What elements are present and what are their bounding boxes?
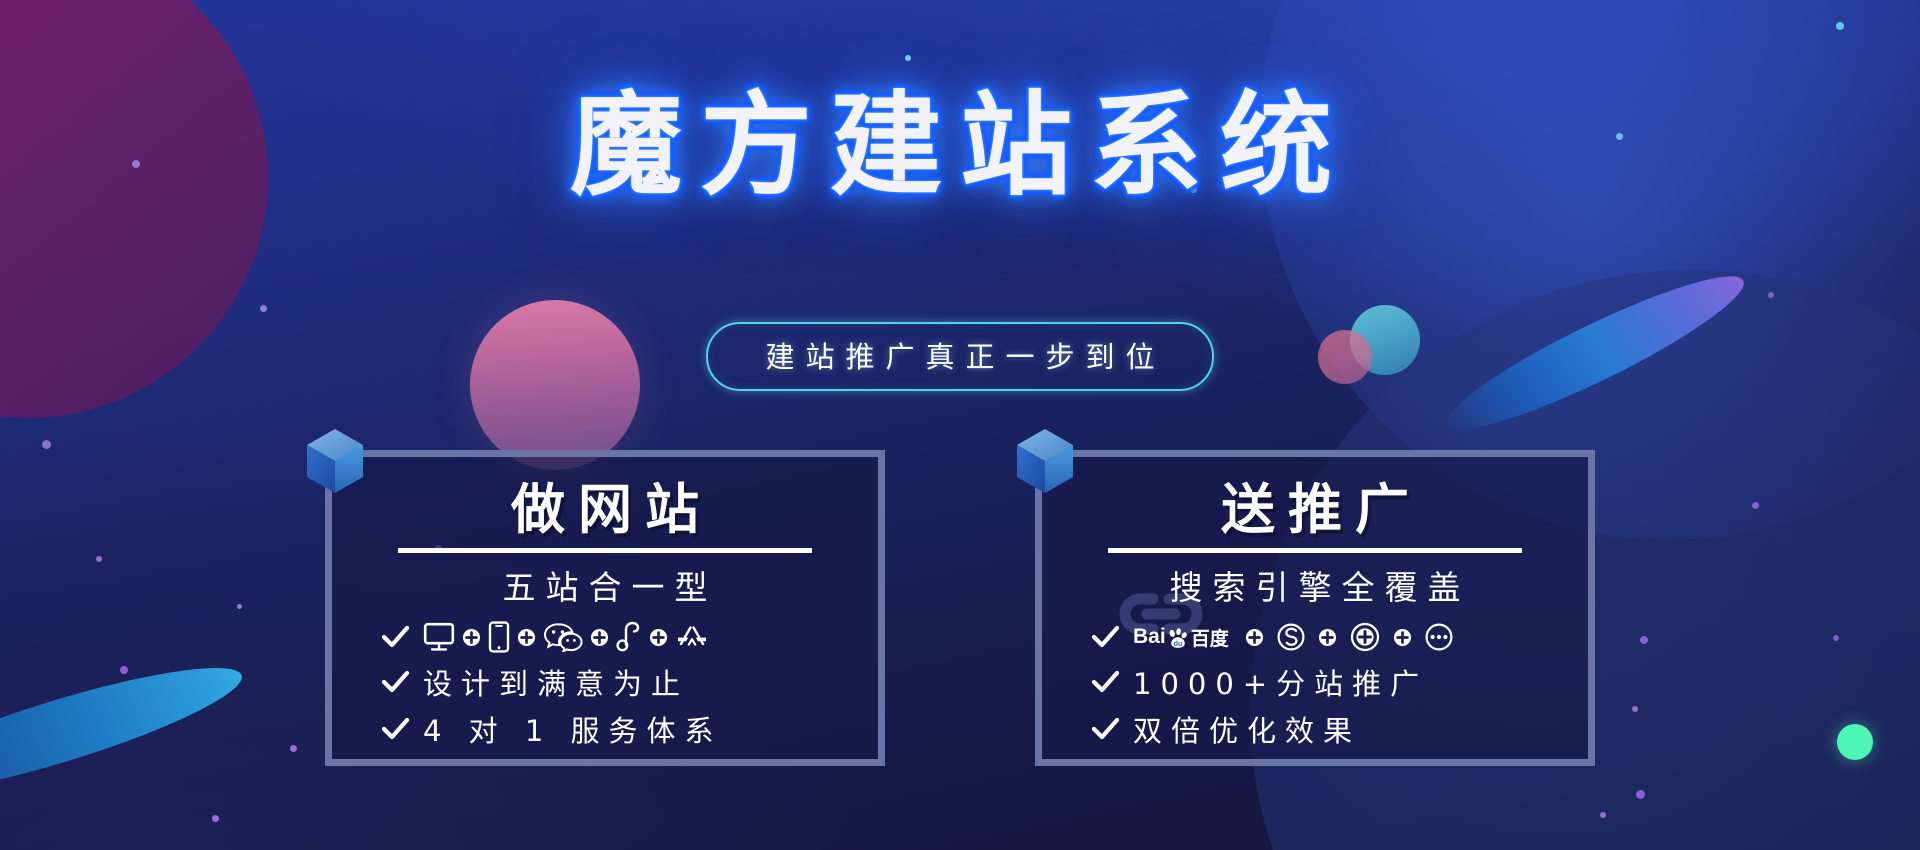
feature-row-subsites: 1000+分站推广 [1068, 661, 1562, 703]
baidu-icon: Bai du 百度 [1133, 624, 1229, 651]
card-free-promotion[interactable]: 送推广 搜索引擎全覆盖 Bai [1035, 450, 1595, 766]
feature-row-service: 4 对 1 服务体系 [358, 708, 852, 750]
star-dot [260, 305, 267, 312]
check-icon [1090, 714, 1120, 744]
card-divider [398, 548, 813, 553]
feature-row-engines: Bai du 百度 [1068, 618, 1562, 656]
card-build-site[interactable]: 做网站 五站合一型 [325, 450, 885, 766]
star-dot [212, 815, 219, 822]
plus-icon [649, 628, 668, 647]
platform-icon-row [423, 621, 709, 653]
baidu-paw-icon: du [1167, 628, 1189, 650]
wechat-icon [543, 622, 583, 652]
subtitle-pill: 建站推广真正一步到位 [706, 322, 1213, 391]
plus-icon [590, 628, 609, 647]
star-dot [42, 440, 51, 449]
ellipsis-icon [1424, 622, 1454, 652]
sogou-icon [1276, 622, 1306, 652]
star-dot [1636, 790, 1645, 799]
feature-label: 设计到满意为止 [423, 661, 689, 703]
card-heading: 送推广 [1068, 481, 1562, 539]
feature-label: 1000+分站推广 [1133, 661, 1428, 703]
feature-label: 双倍优化效果 [1133, 708, 1361, 750]
page-title: 魔方建站系统 [570, 84, 1350, 209]
feature-label: 4 对 1 服务体系 [423, 708, 723, 750]
search-engine-icon-row: Bai du 百度 [1133, 621, 1454, 653]
cube-icon [1014, 427, 1076, 495]
star-dot [905, 55, 911, 61]
baidu-du-label: du [1173, 639, 1182, 648]
check-icon [380, 714, 410, 744]
card-heading: 做网站 [358, 481, 852, 539]
360-search-icon [1349, 621, 1381, 653]
banner-canvas: 魔方建站系统 建站推广真正一步到位 [0, 0, 1920, 850]
feature-row-optimization: 双倍优化效果 [1068, 708, 1562, 750]
feature-row-platforms [358, 618, 852, 656]
star-dot [1768, 292, 1774, 298]
check-icon [380, 667, 410, 697]
check-icon [380, 622, 410, 652]
star-dot [1836, 22, 1844, 30]
card-subheading: 搜索引擎全覆盖 [1068, 561, 1562, 609]
cube-icon [304, 427, 366, 495]
mobile-icon [488, 621, 510, 653]
title-block: 魔方建站系统 [0, 84, 1920, 209]
card-divider [1108, 548, 1523, 553]
plus-icon [1245, 628, 1264, 647]
plus-icon [1393, 628, 1412, 647]
offer-cards: 做网站 五站合一型 [0, 450, 1920, 766]
baidu-latin: Bai [1133, 625, 1166, 649]
star-dot [1600, 812, 1606, 818]
card-subheading: 五站合一型 [358, 561, 852, 609]
plus-icon [462, 628, 481, 647]
subtitle-block: 建站推广真正一步到位 [0, 322, 1920, 391]
baidu-cn-label: 百度 [1191, 624, 1229, 651]
app-store-icon [675, 622, 709, 652]
check-icon [1090, 667, 1120, 697]
plus-icon [1318, 628, 1337, 647]
plus-icon [517, 628, 536, 647]
monitor-icon [423, 622, 455, 652]
music-note-icon [616, 621, 642, 653]
feature-row-design: 设计到满意为止 [358, 661, 852, 703]
check-icon [1090, 622, 1120, 652]
